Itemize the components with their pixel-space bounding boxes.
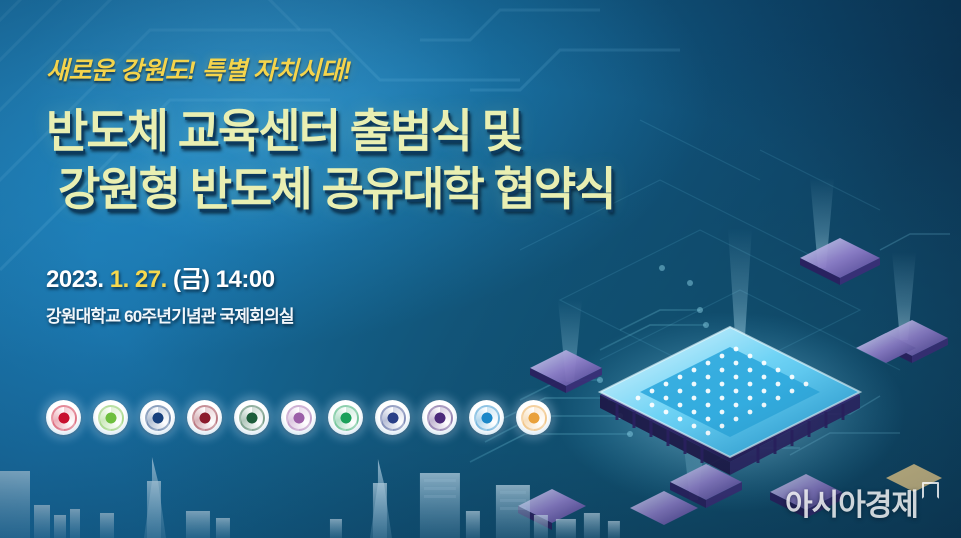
press-watermark: 아시아경제	[785, 480, 939, 524]
semiconductor-center-emblem	[516, 400, 551, 435]
gangneung-wonju-university-emblem	[328, 400, 363, 435]
gangwon-tech-institute-emblem	[469, 400, 504, 435]
partner-logo-strip	[46, 400, 551, 435]
education-ministry-emblem	[140, 400, 175, 435]
hallym-university-emblem-glyph-icon	[239, 405, 265, 431]
gangwon-tech-institute-emblem-glyph-icon	[474, 405, 500, 431]
gangwon-province-emblem	[93, 400, 128, 435]
page-title: 반도체 교육센터 출범식 및 강원형 반도체 공유대학 협약식	[46, 102, 646, 220]
city-skyline-silhouette	[0, 423, 692, 538]
yonsei-mirae-emblem-glyph-icon	[286, 405, 312, 431]
event-poster: 새로운 강원도! 특별 자치시대! 반도체 교육센터 출범식 및 강원형 반도체…	[0, 0, 961, 538]
gangneung-wonju-university-emblem-glyph-icon	[333, 405, 359, 431]
education-ministry-emblem-glyph-icon	[145, 405, 171, 431]
gangwon-province-emblem-glyph-icon	[98, 405, 124, 431]
semiconductor-center-emblem-glyph-icon	[521, 405, 547, 431]
watermark-text: 아시아경제	[785, 480, 918, 524]
korea-government-emblem-glyph-icon	[51, 405, 77, 431]
sangji-university-emblem	[375, 400, 410, 435]
title-line-1: 반도체 교육센터 출범식 및	[46, 102, 646, 161]
halla-university-emblem-glyph-icon	[427, 405, 453, 431]
kangwon-national-university-emblem-glyph-icon	[192, 405, 218, 431]
event-date-prefix: 2023.	[46, 266, 104, 293]
sangji-university-emblem-glyph-icon	[380, 405, 406, 431]
event-date-highlight: 1. 27.	[110, 266, 167, 293]
yonsei-mirae-emblem	[281, 400, 316, 435]
hallym-university-emblem	[234, 400, 269, 435]
title-line-2: 강원형 반도체 공유대학 협약식	[58, 160, 646, 219]
event-date: 2023. 1. 27. (금) 14:00	[46, 259, 646, 294]
poster-text-block: 새로운 강원도! 특별 자치시대! 반도체 교육센터 출범식 및 강원형 반도체…	[46, 58, 646, 327]
halla-university-emblem	[422, 400, 457, 435]
kangwon-national-university-emblem	[187, 400, 222, 435]
event-date-suffix: (금) 14:00	[173, 266, 275, 293]
event-venue: 강원대학교 60주년기념관 국제회의실	[46, 302, 646, 327]
watermark-mark-icon	[922, 482, 939, 499]
korea-government-emblem	[46, 400, 81, 435]
tagline: 새로운 강원도! 특별 자치시대!	[46, 58, 646, 86]
